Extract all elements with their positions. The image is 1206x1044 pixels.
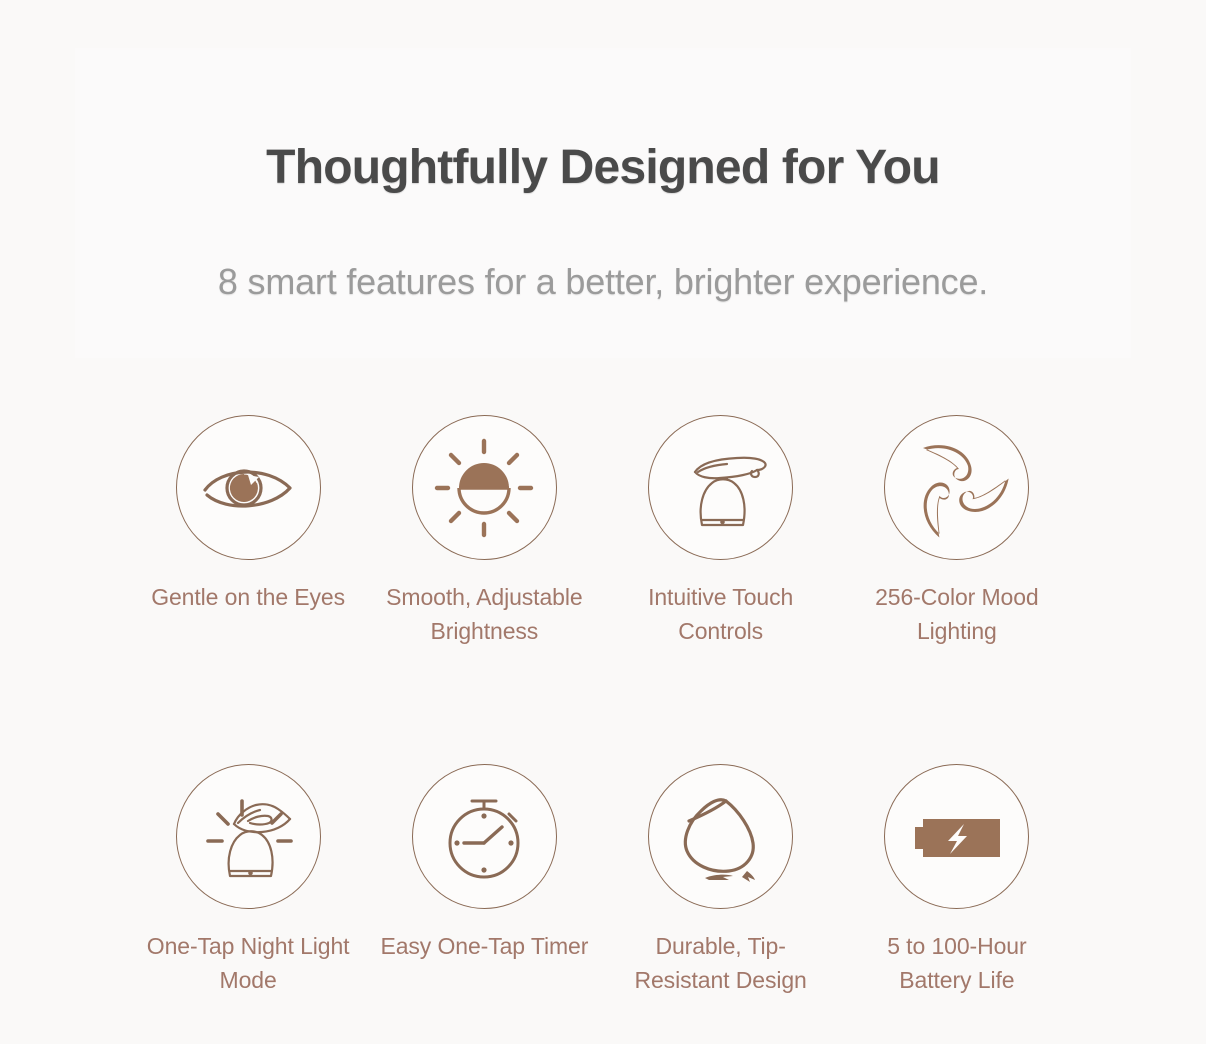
feature-label: Durable, Tip-Resistant Design — [613, 929, 828, 997]
touch-finger-lamp-icon — [648, 415, 793, 560]
feature-label: 256-Color Mood Lighting — [849, 580, 1064, 648]
battery-charging-icon — [884, 764, 1029, 909]
feature-item: One-Tap Night Light Mode — [130, 764, 366, 997]
feature-item: Easy One-Tap Timer — [366, 764, 602, 997]
feature-item: Durable, Tip-Resistant Design — [603, 764, 839, 997]
feature-label: One-Tap Night Light Mode — [141, 929, 356, 997]
brightness-sun-icon — [412, 415, 557, 560]
feature-label: Gentle on the Eyes — [141, 580, 356, 614]
stopwatch-timer-icon — [412, 764, 557, 909]
hand-tap-night-light-icon — [176, 764, 321, 909]
feature-item: 256-Color Mood Lighting — [839, 415, 1075, 648]
feature-label: Intuitive Touch Controls — [613, 580, 828, 648]
feature-item: Gentle on the Eyes — [130, 415, 366, 648]
feature-item: 5 to 100-Hour Battery Life — [839, 764, 1075, 997]
feature-label: 5 to 100-Hour Battery Life — [849, 929, 1064, 997]
feature-label: Smooth, Adjustable Brightness — [377, 580, 592, 648]
page-title: Thoughtfully Designed for You — [75, 140, 1131, 195]
feature-label: Easy One-Tap Timer — [377, 929, 592, 963]
eye-icon — [176, 415, 321, 560]
color-swirl-icon — [884, 415, 1029, 560]
header-panel: Thoughtfully Designed for You 8 smart fe… — [75, 48, 1131, 358]
features-grid: Gentle on the Eyes — [130, 415, 1075, 997]
tip-resistant-lamp-icon — [648, 764, 793, 909]
feature-item: Smooth, Adjustable Brightness — [366, 415, 602, 648]
feature-highlights-page: Thoughtfully Designed for You 8 smart fe… — [0, 0, 1206, 1044]
page-subtitle: 8 smart features for a better, brighter … — [75, 260, 1131, 303]
feature-item: Intuitive Touch Controls — [603, 415, 839, 648]
